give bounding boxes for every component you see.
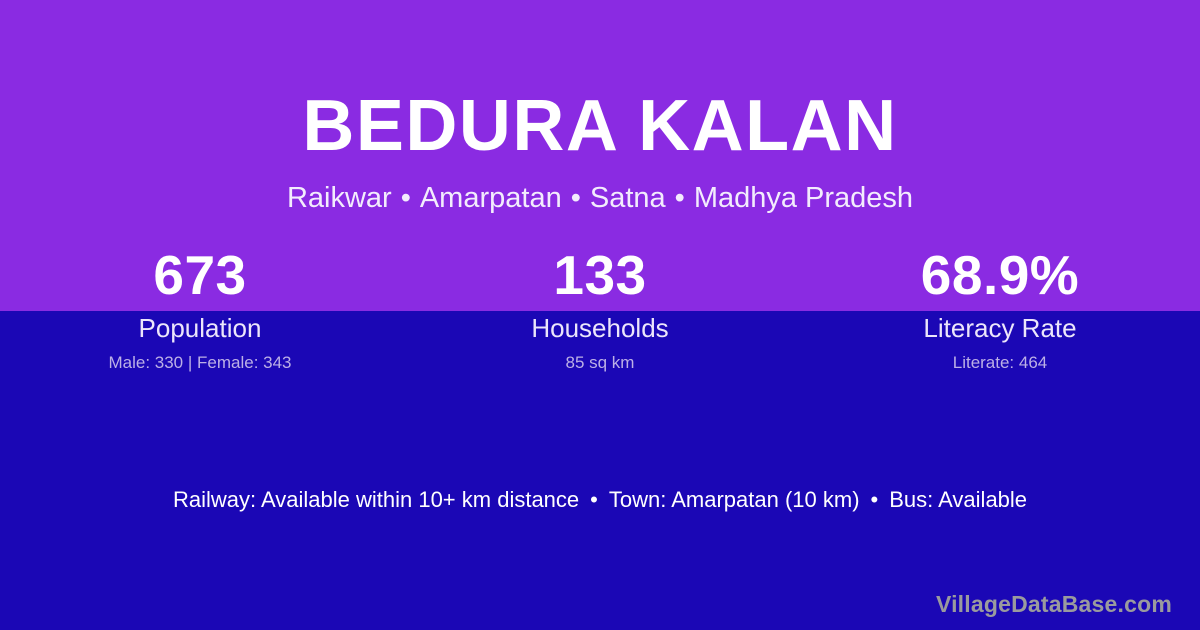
amenity-railway: Railway: Available within 10+ km distanc… [173,485,579,515]
stat-label: Households [400,306,800,344]
breadcrumb-separator: • [666,180,694,216]
stat-value: 133 [400,244,800,306]
stat-value: 68.9% [800,244,1200,306]
stat-population: 673 Population Male: 330 | Female: 343 [0,244,400,374]
amenity-separator: • [579,485,609,515]
breadcrumb-part-state: Madhya Pradesh [694,182,913,214]
stat-label: Population [0,306,400,344]
amenities-line: Railway: Available within 10+ km distanc… [0,485,1200,515]
stat-households: 133 Households 85 sq km [400,244,800,374]
stat-sublabel: Male: 330 | Female: 343 [0,344,400,374]
village-info-card: BEDURA KALAN Raikwar•Amarpatan•Satna•Mad… [0,0,1200,630]
breadcrumb-separator: • [392,180,420,216]
stat-sublabel: Literate: 464 [800,344,1200,374]
stat-label: Literacy Rate [800,306,1200,344]
stats-row: 673 Population Male: 330 | Female: 343 1… [0,244,1200,374]
amenity-separator: • [860,485,890,515]
card-header: BEDURA KALAN Raikwar•Amarpatan•Satna•Mad… [0,0,1200,216]
page-title: BEDURA KALAN [0,0,1200,168]
breadcrumb-part-district: Satna [590,182,666,214]
breadcrumb: Raikwar•Amarpatan•Satna•Madhya Pradesh [0,168,1200,216]
site-watermark: VillageDataBase.com [936,590,1172,618]
amenity-town: Town: Amarpatan (10 km) [609,485,860,515]
breadcrumb-separator: • [562,180,590,216]
stat-value: 673 [0,244,400,306]
breadcrumb-part-village: Raikwar [287,182,392,214]
stat-literacy-rate: 68.9% Literacy Rate Literate: 464 [800,244,1200,374]
breadcrumb-part-block: Amarpatan [420,182,562,214]
amenity-bus: Bus: Available [889,485,1027,515]
stat-sublabel: 85 sq km [400,344,800,374]
